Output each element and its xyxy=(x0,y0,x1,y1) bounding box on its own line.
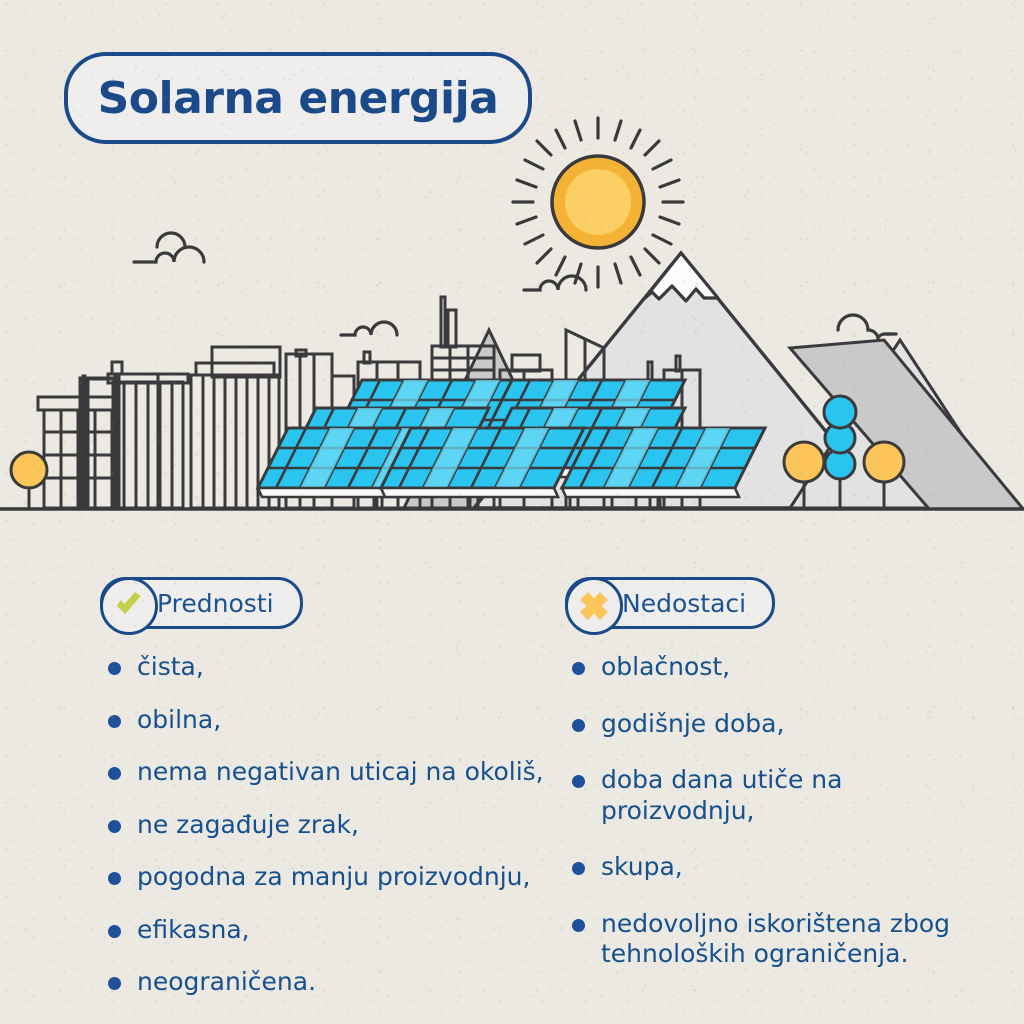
bullet-icon xyxy=(572,862,585,875)
yellow-tree-left xyxy=(11,452,47,508)
bullet-icon xyxy=(108,715,121,728)
list-item: pogodna za manju proizvodnju, xyxy=(108,862,548,893)
list-item: nedovoljno iskorištena zbog tehnoloških … xyxy=(572,909,1002,970)
bullet-icon xyxy=(108,925,121,938)
section-label-prednosti: Prednosti xyxy=(157,589,274,618)
page-title: Solarna energija xyxy=(64,52,532,144)
section-label-nedostaci: Nedostaci xyxy=(622,589,746,618)
cloud-2 xyxy=(341,322,397,335)
page-title-text: Solarna energija xyxy=(98,73,499,124)
section-header-nedostaci: Nedostaci xyxy=(565,578,775,628)
bullet-icon xyxy=(108,820,121,833)
bullet-icon xyxy=(108,662,121,675)
bullet-icon xyxy=(572,719,585,732)
disadvantages-list: oblačnost, godišnje doba, doba dana utič… xyxy=(572,652,1002,996)
list-item: ne zagađuje zrak, xyxy=(108,810,548,841)
cloud-1 xyxy=(134,233,204,262)
solar-panel xyxy=(562,428,765,508)
bullet-icon xyxy=(108,977,121,990)
list-item: oblačnost, xyxy=(572,652,1002,683)
bullet-icon xyxy=(108,767,121,780)
cloud-3 xyxy=(524,276,586,290)
list-item: čista, xyxy=(108,652,548,683)
advantages-list: čista, obilna, nema negativan uticaj na … xyxy=(108,652,548,1020)
bullet-icon xyxy=(572,919,585,932)
list-item: godišnje doba, xyxy=(572,709,1002,740)
bullet-icon xyxy=(572,775,585,788)
list-item: skupa, xyxy=(572,852,1002,883)
list-item: neograničena. xyxy=(108,967,548,998)
right-mountain xyxy=(790,340,1024,510)
sun-icon xyxy=(513,118,683,287)
list-item: efikasna, xyxy=(108,915,548,946)
solar-panel xyxy=(381,428,584,508)
bullet-icon xyxy=(108,872,121,885)
bullet-icon xyxy=(572,662,585,675)
list-item: nema negativan uticaj na okoliš, xyxy=(108,757,548,788)
list-item: obilna, xyxy=(108,705,548,736)
list-item: doba dana utiče na proizvodnju, xyxy=(572,765,1002,826)
check-icon xyxy=(100,577,158,635)
section-header-prednosti: Prednosti xyxy=(100,578,303,628)
cross-icon xyxy=(565,577,623,635)
cloud-4 xyxy=(838,315,896,338)
